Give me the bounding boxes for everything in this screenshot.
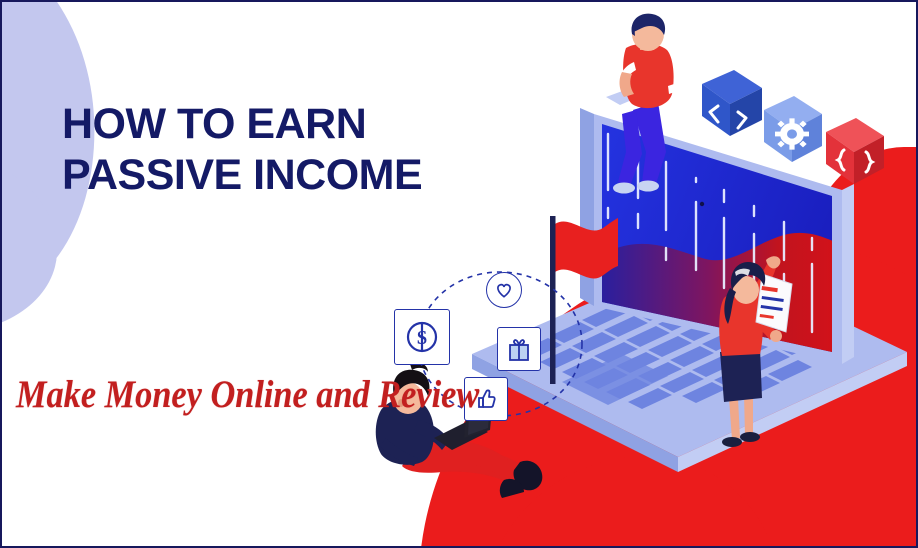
headline-line-2: PASSIVE INCOME bbox=[62, 150, 422, 201]
held-document bbox=[756, 274, 792, 332]
code-badge bbox=[702, 70, 762, 136]
gift-icon-card[interactable] bbox=[497, 327, 541, 371]
subtitle: Make Money Online and Review bbox=[16, 372, 479, 417]
dollar-icon-card[interactable]: $ bbox=[394, 309, 450, 365]
braces-badge bbox=[826, 118, 884, 184]
headline-line-1: HOW TO EARN bbox=[62, 99, 422, 150]
screen-dot bbox=[700, 202, 704, 206]
dollar-icon: $ bbox=[403, 318, 441, 356]
page-title: HOW TO EARN PASSIVE INCOME bbox=[62, 99, 422, 200]
gear-badge bbox=[764, 96, 822, 162]
gift-icon bbox=[505, 335, 533, 363]
heart-icon-card[interactable] bbox=[486, 272, 522, 308]
isometric-illustration bbox=[2, 2, 918, 548]
poster: HOW TO EARN PASSIVE INCOME Make Money On… bbox=[0, 0, 918, 548]
heart-icon bbox=[494, 280, 514, 300]
